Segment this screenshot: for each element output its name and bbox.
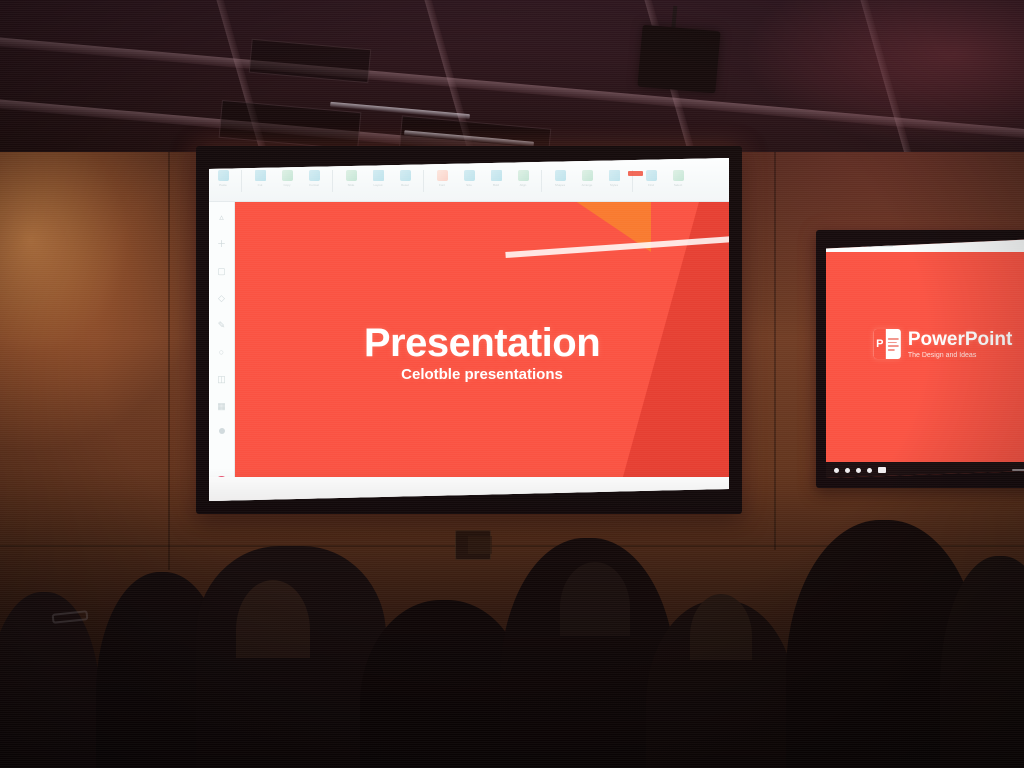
ribbon-button[interactable]: Copy	[277, 170, 297, 187]
ribbon-button[interactable]: Cut	[250, 170, 270, 187]
powerpoint-logo-letter: P	[874, 329, 886, 359]
ribbon-button-label: Shapes	[555, 183, 565, 187]
ribbon-button[interactable]: Layout	[368, 170, 388, 187]
new-slide-icon	[346, 170, 357, 181]
ribbon-button-label: Paste	[219, 183, 227, 187]
ribbon-button-label: Select	[674, 183, 682, 187]
ribbon-button[interactable]: Bold	[486, 170, 506, 187]
slide-text-block: Presentation Celotble presentations	[235, 323, 729, 383]
powerpoint-app-window: Presentation - PowerPoint Paste Cut Copy…	[209, 158, 729, 501]
ribbon-divider	[241, 170, 242, 192]
ribbon-button[interactable]: Styles	[604, 170, 624, 187]
secondary-slide-canvas[interactable]: P PowerPoint The Design and Ideas	[826, 252, 1024, 462]
slide-title: Presentation	[261, 323, 703, 363]
ribbon-button[interactable]: Arrange	[577, 170, 597, 187]
ribbon-button-label: Size	[466, 183, 472, 187]
slide-canvas[interactable]: Presentation Celotble presentations	[235, 202, 729, 477]
ribbon-button-label: Reset	[401, 183, 409, 187]
secondary-projection-screen[interactable]: P PowerPoint The Design and Ideas	[816, 230, 1024, 488]
brand-tagline: The Design and Ideas	[908, 352, 1013, 359]
ceiling-tile	[249, 39, 372, 84]
ribbon-button-group[interactable]: Paste Cut Copy Format Slide Layout Reset…	[213, 170, 725, 200]
ribbon-button-label: Styles	[610, 183, 618, 187]
left-tool-rail[interactable]: ▵ ＋ ▢ ◇ ✎ ○ ◫ ▦	[209, 202, 235, 501]
cursor-icon[interactable]: ▵	[217, 212, 227, 222]
ribbon-button-label: Layout	[373, 183, 382, 187]
logo-line	[888, 349, 895, 351]
brand-text: PowerPoint The Design and Ideas	[908, 330, 1013, 359]
ribbon-button-label: Slide	[348, 183, 355, 187]
bold-icon	[491, 170, 502, 181]
secondary-screen-surface: P PowerPoint The Design and Ideas	[826, 239, 1024, 478]
text-icon[interactable]: ＋	[217, 239, 227, 249]
more-icon[interactable]	[219, 428, 225, 434]
ribbon-button[interactable]: Reset	[395, 170, 415, 187]
screen-surface: Presentation - PowerPoint Paste Cut Copy…	[209, 158, 729, 501]
ribbon-button-label: Copy	[283, 183, 290, 187]
layout-icon	[373, 170, 384, 181]
ribbon-button-label: Arrange	[582, 183, 593, 187]
audience-silhouettes	[0, 468, 1024, 768]
chart-icon[interactable]: ◫	[217, 374, 227, 384]
search-icon	[646, 170, 657, 181]
ribbon-button[interactable]: Find	[641, 170, 661, 187]
shape-icon[interactable]: ◇	[217, 293, 227, 303]
image-icon[interactable]: ▢	[217, 266, 227, 276]
ribbon-button-label: Find	[648, 183, 654, 187]
ribbon-button[interactable]: Align	[513, 170, 533, 187]
ribbon-button[interactable]: Size	[459, 170, 479, 187]
logo-line	[888, 342, 897, 344]
ribbon-divider	[332, 170, 333, 192]
ribbon-button-label: Font	[439, 183, 445, 187]
comment-icon[interactable]: ○	[217, 347, 227, 357]
font-icon	[437, 170, 448, 181]
align-icon	[518, 170, 529, 181]
reset-icon	[400, 170, 411, 181]
ribbon-button[interactable]: Slide	[341, 170, 361, 187]
ribbon-button[interactable]: Select	[668, 170, 688, 187]
ceiling-projector-icon	[637, 25, 720, 94]
arrange-icon	[582, 170, 593, 181]
brush-icon	[309, 170, 320, 181]
table-icon[interactable]: ▦	[217, 401, 227, 411]
ribbon-button-label: Format	[309, 183, 319, 187]
select-icon	[673, 170, 684, 181]
ribbon-divider	[423, 170, 424, 192]
ribbon-button[interactable]: Font	[432, 170, 452, 187]
slide-subtitle: Celotble presentations	[261, 366, 703, 383]
ribbon-button[interactable]: Paste	[213, 170, 233, 187]
ribbon-button-label: Align	[520, 183, 527, 187]
logo-line	[888, 345, 899, 347]
ribbon-button[interactable]: Format	[304, 170, 324, 187]
styles-icon	[609, 170, 620, 181]
main-projection-screen[interactable]: Presentation - PowerPoint Paste Cut Copy…	[196, 146, 742, 514]
powerpoint-logo-lines	[886, 334, 901, 354]
logo-line	[888, 338, 899, 340]
ribbon-button-label: Bold	[493, 183, 499, 187]
shapes-icon	[555, 170, 566, 181]
powerpoint-logo-icon: P	[874, 329, 901, 359]
brand-name: PowerPoint	[908, 330, 1013, 349]
presentation-scene: Presentation - PowerPoint Paste Cut Copy…	[0, 0, 1024, 768]
powerpoint-brand-block: P PowerPoint The Design and Ideas	[874, 329, 1013, 359]
paste-icon	[218, 170, 229, 181]
ribbon-accent-marker	[628, 171, 643, 176]
ceiling	[0, 0, 1024, 152]
font-size-icon	[464, 170, 475, 181]
ribbon-button-label: Cut	[258, 183, 263, 187]
ceiling-glow	[744, 0, 1024, 150]
ribbon-button[interactable]: Shapes	[550, 170, 570, 187]
ribbon-divider	[541, 170, 542, 192]
copy-icon	[282, 170, 293, 181]
pen-icon[interactable]: ✎	[217, 320, 227, 330]
scissors-icon	[255, 170, 266, 181]
